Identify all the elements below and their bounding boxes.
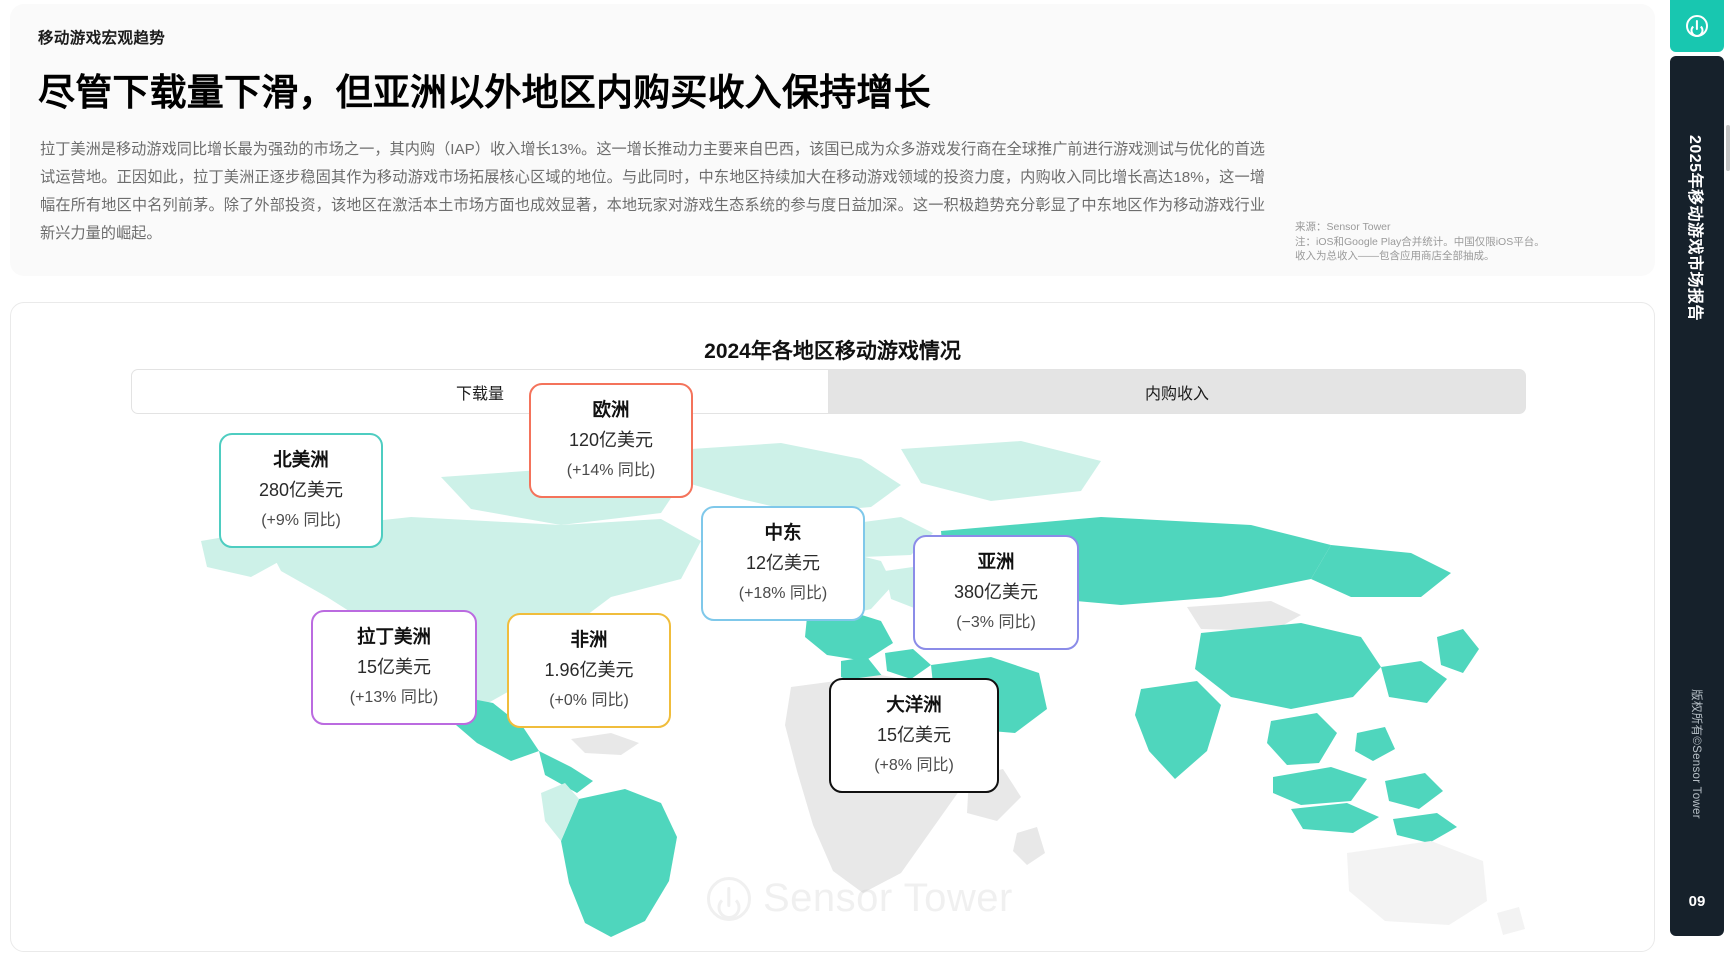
callout-asia[interactable]: 亚洲 380亿美元 (−3% 同比)	[913, 535, 1079, 650]
callout-europe[interactable]: 欧洲 120亿美元 (+14% 同比)	[529, 383, 693, 498]
source-line-3: 收入为总收入——包含应用商店全部抽成。	[1295, 249, 1625, 264]
sidebar-rail: 2025年移动游戏市场报告 版权所有©Sensor Tower 09	[1670, 56, 1724, 936]
section-eyebrow: 移动游戏宏观趋势	[38, 26, 165, 48]
callout-region-label: 北美洲	[273, 445, 329, 475]
metric-tabs: 下载量 内购收入	[131, 369, 1526, 414]
source-line-1: 来源：Sensor Tower	[1295, 220, 1625, 235]
callout-value: 12亿美元	[746, 548, 820, 579]
callout-region-label: 亚洲	[977, 547, 1014, 577]
callout-yoy: (+9% 同比)	[261, 506, 341, 536]
callout-yoy: (+13% 同比)	[350, 683, 438, 713]
callout-region-label: 欧洲	[592, 395, 629, 425]
page-number: 09	[1670, 893, 1724, 910]
callout-region-label: 非洲	[570, 625, 607, 655]
sensor-tower-logo-button[interactable]	[1670, 0, 1724, 52]
source-line-2: 注：iOS和Google Play合并统计。中国仅限iOS平台。	[1295, 235, 1625, 250]
callout-yoy: (+0% 同比)	[549, 686, 629, 716]
callout-latin-america[interactable]: 拉丁美洲 15亿美元 (+13% 同比)	[311, 610, 477, 725]
chart-card: 2024年各地区移动游戏情况 下载量 内购收入	[10, 302, 1655, 952]
callout-yoy: (+18% 同比)	[739, 579, 827, 609]
callout-value: 1.96亿美元	[544, 655, 633, 686]
report-page: 移动游戏宏观趋势 尽管下载量下滑，但亚洲以外地区内购买收入保持增长 拉丁美洲是移…	[0, 0, 1730, 962]
callout-value: 15亿美元	[357, 652, 431, 683]
body-paragraph: 拉丁美洲是移动游戏同比增长最为强劲的市场之一，其内购（IAP）收入增长13%。这…	[40, 136, 1265, 248]
callout-middle-east[interactable]: 中东 12亿美元 (+18% 同比)	[701, 506, 865, 621]
header-card: 移动游戏宏观趋势 尽管下载量下滑，但亚洲以外地区内购买收入保持增长 拉丁美洲是移…	[10, 4, 1655, 276]
source-note: 来源：Sensor Tower 注：iOS和Google Play合并统计。中国…	[1295, 220, 1625, 264]
callout-region-label: 大洋洲	[886, 690, 942, 720]
right-sidebar: 2025年移动游戏市场报告 版权所有©Sensor Tower 09	[1664, 0, 1730, 962]
callout-africa[interactable]: 非洲 1.96亿美元 (+0% 同比)	[507, 613, 671, 728]
callout-north-america[interactable]: 北美洲 280亿美元 (+9% 同比)	[219, 433, 383, 548]
tab-iap-revenue[interactable]: 内购收入	[829, 370, 1525, 413]
sensor-tower-logo-icon	[1686, 15, 1708, 37]
callout-value: 380亿美元	[954, 577, 1038, 608]
callout-oceania[interactable]: 大洋洲 15亿美元 (+8% 同比)	[829, 678, 999, 793]
callout-yoy: (+14% 同比)	[567, 456, 655, 486]
callout-yoy: (+8% 同比)	[874, 751, 954, 781]
report-title-vertical: 2025年移动游戏市场报告	[1685, 135, 1709, 321]
callout-value: 280亿美元	[259, 475, 343, 506]
page-title: 尽管下载量下滑，但亚洲以外地区内购买收入保持增长	[38, 62, 931, 116]
callout-value: 15亿美元	[877, 720, 951, 751]
tab-downloads[interactable]: 下载量	[132, 370, 829, 413]
callout-region-label: 拉丁美洲	[357, 622, 431, 652]
scrollbar-thumb[interactable]	[1726, 125, 1730, 171]
callout-yoy: (−3% 同比)	[956, 608, 1036, 638]
callout-value: 120亿美元	[569, 425, 653, 456]
copyright-vertical: 版权所有©Sensor Tower	[1689, 689, 1705, 819]
callout-region-label: 中东	[764, 518, 801, 548]
chart-title: 2024年各地区移动游戏情况	[11, 335, 1654, 365]
